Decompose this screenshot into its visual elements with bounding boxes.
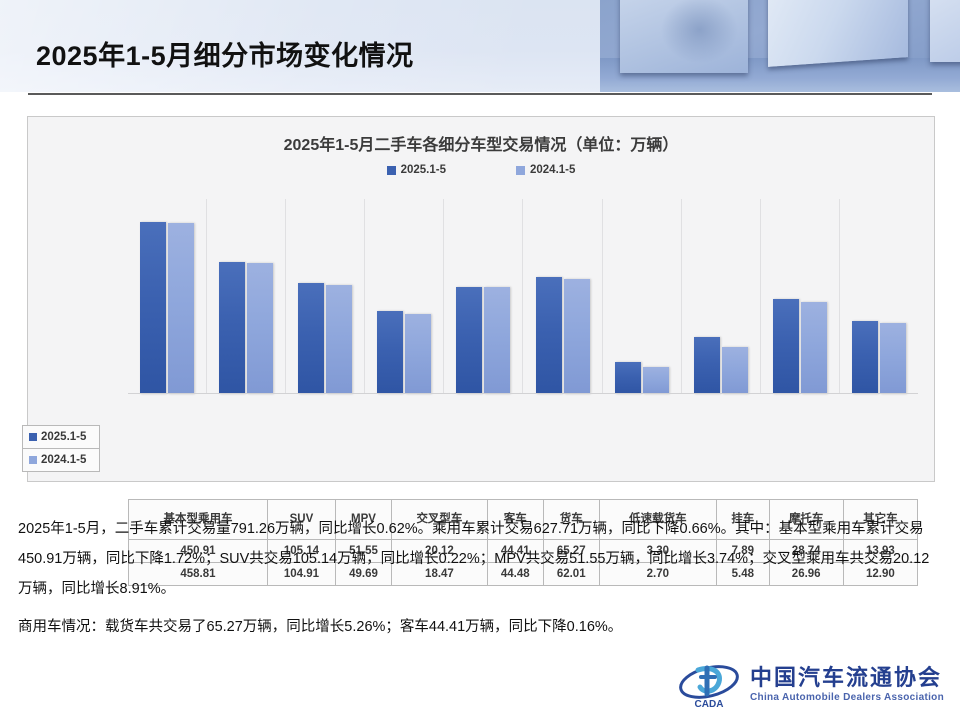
bar-2025[interactable]	[456, 287, 482, 394]
bar-2024[interactable]	[405, 314, 431, 394]
bar-2024[interactable]	[168, 223, 194, 394]
bar-2025[interactable]	[536, 277, 562, 394]
table-row-label: 2025.1-5	[23, 426, 100, 449]
chart-legend: 2025.1-5 2024.1-5	[28, 164, 934, 176]
chart-plot-area	[128, 199, 918, 394]
bar-2024[interactable]	[722, 347, 748, 394]
series-swatch-icon	[29, 433, 37, 441]
legend-item-2024[interactable]: 2024.1-5	[516, 164, 575, 176]
slide-root: 2025年1-5月细分市场变化情况 2025年1-5月二手车各细分车型交易情况（…	[0, 0, 960, 720]
legend-item-2025[interactable]: 2025.1-5	[387, 164, 446, 176]
bar-2025[interactable]	[615, 362, 641, 394]
legend-swatch-2024	[516, 166, 525, 175]
bar-2024[interactable]	[801, 302, 827, 394]
cada-logo-mark-icon: CADA	[678, 660, 740, 710]
table-row-label-cell: 2025.1-5	[23, 426, 100, 449]
bar-group	[128, 199, 207, 394]
chart-data-table-row-labels: 2025.1-52024.1-5	[22, 425, 100, 472]
bar-group	[523, 199, 602, 394]
series-swatch-icon	[29, 456, 37, 464]
body-paragraph: 商用车情况：载货车共交易了65.27万辆，同比增长5.26%；客车44.41万辆…	[18, 612, 942, 642]
table-row-label: 2024.1-5	[23, 449, 100, 472]
bar-2025[interactable]	[694, 337, 720, 394]
legend-swatch-2025	[387, 166, 396, 175]
bar-2024[interactable]	[326, 285, 352, 394]
bar-2025[interactable]	[773, 299, 799, 394]
legend-label-2025: 2025.1-5	[401, 164, 446, 176]
legend-label-2024: 2024.1-5	[530, 164, 575, 176]
chart-title: 2025年1-5月二手车各细分车型交易情况（单位：万辆）	[28, 131, 934, 155]
bar-group	[840, 199, 918, 394]
bar-2024[interactable]	[880, 323, 906, 394]
svg-text:CADA: CADA	[695, 699, 724, 710]
bar-group	[286, 199, 365, 394]
bar-2025[interactable]	[298, 283, 324, 394]
deco-cube-2	[768, 0, 908, 67]
deco-cube-3	[930, 0, 960, 62]
bar-2024[interactable]	[564, 279, 590, 394]
chart-panel: 2025年1-5月二手车各细分车型交易情况（单位：万辆） 2025.1-5 20…	[27, 116, 935, 482]
table-row-label-cell: 2024.1-5	[23, 449, 100, 472]
bar-2024[interactable]	[247, 263, 273, 394]
bar-2025[interactable]	[140, 222, 166, 394]
bar-group	[365, 199, 444, 394]
bar-groups	[128, 199, 918, 394]
body-paragraph: 2025年1-5月，二手车累计交易量791.26万辆，同比增长0.62%。乘用车…	[18, 514, 942, 604]
bar-2025[interactable]	[852, 321, 878, 394]
cada-logo: CADA 中国汽车流通协会 China Automobile Dealers A…	[678, 660, 944, 710]
bar-group	[603, 199, 682, 394]
page-title: 2025年1-5月细分市场变化情况	[36, 34, 414, 73]
bar-group	[207, 199, 286, 394]
x-axis-line	[128, 393, 918, 394]
bar-2024[interactable]	[484, 287, 510, 394]
bar-group	[761, 199, 840, 394]
cada-logo-en: China Automobile Dealers Association	[750, 693, 944, 703]
bar-2025[interactable]	[219, 262, 245, 394]
deco-cube-1	[620, 0, 748, 73]
body-text: 2025年1-5月，二手车累计交易量791.26万辆，同比增长0.62%。乘用车…	[18, 514, 942, 650]
bar-2024[interactable]	[643, 367, 669, 394]
cada-emblem-icon: CADA	[678, 660, 740, 710]
bar-group	[444, 199, 523, 394]
cada-logo-cn: 中国汽车流通协会	[750, 667, 944, 689]
cada-logo-text: 中国汽车流通协会 China Automobile Dealers Associ…	[750, 667, 944, 703]
bar-2025[interactable]	[377, 311, 403, 394]
bar-group	[682, 199, 761, 394]
header-divider	[28, 93, 932, 95]
decorative-cubes-image	[600, 0, 960, 92]
